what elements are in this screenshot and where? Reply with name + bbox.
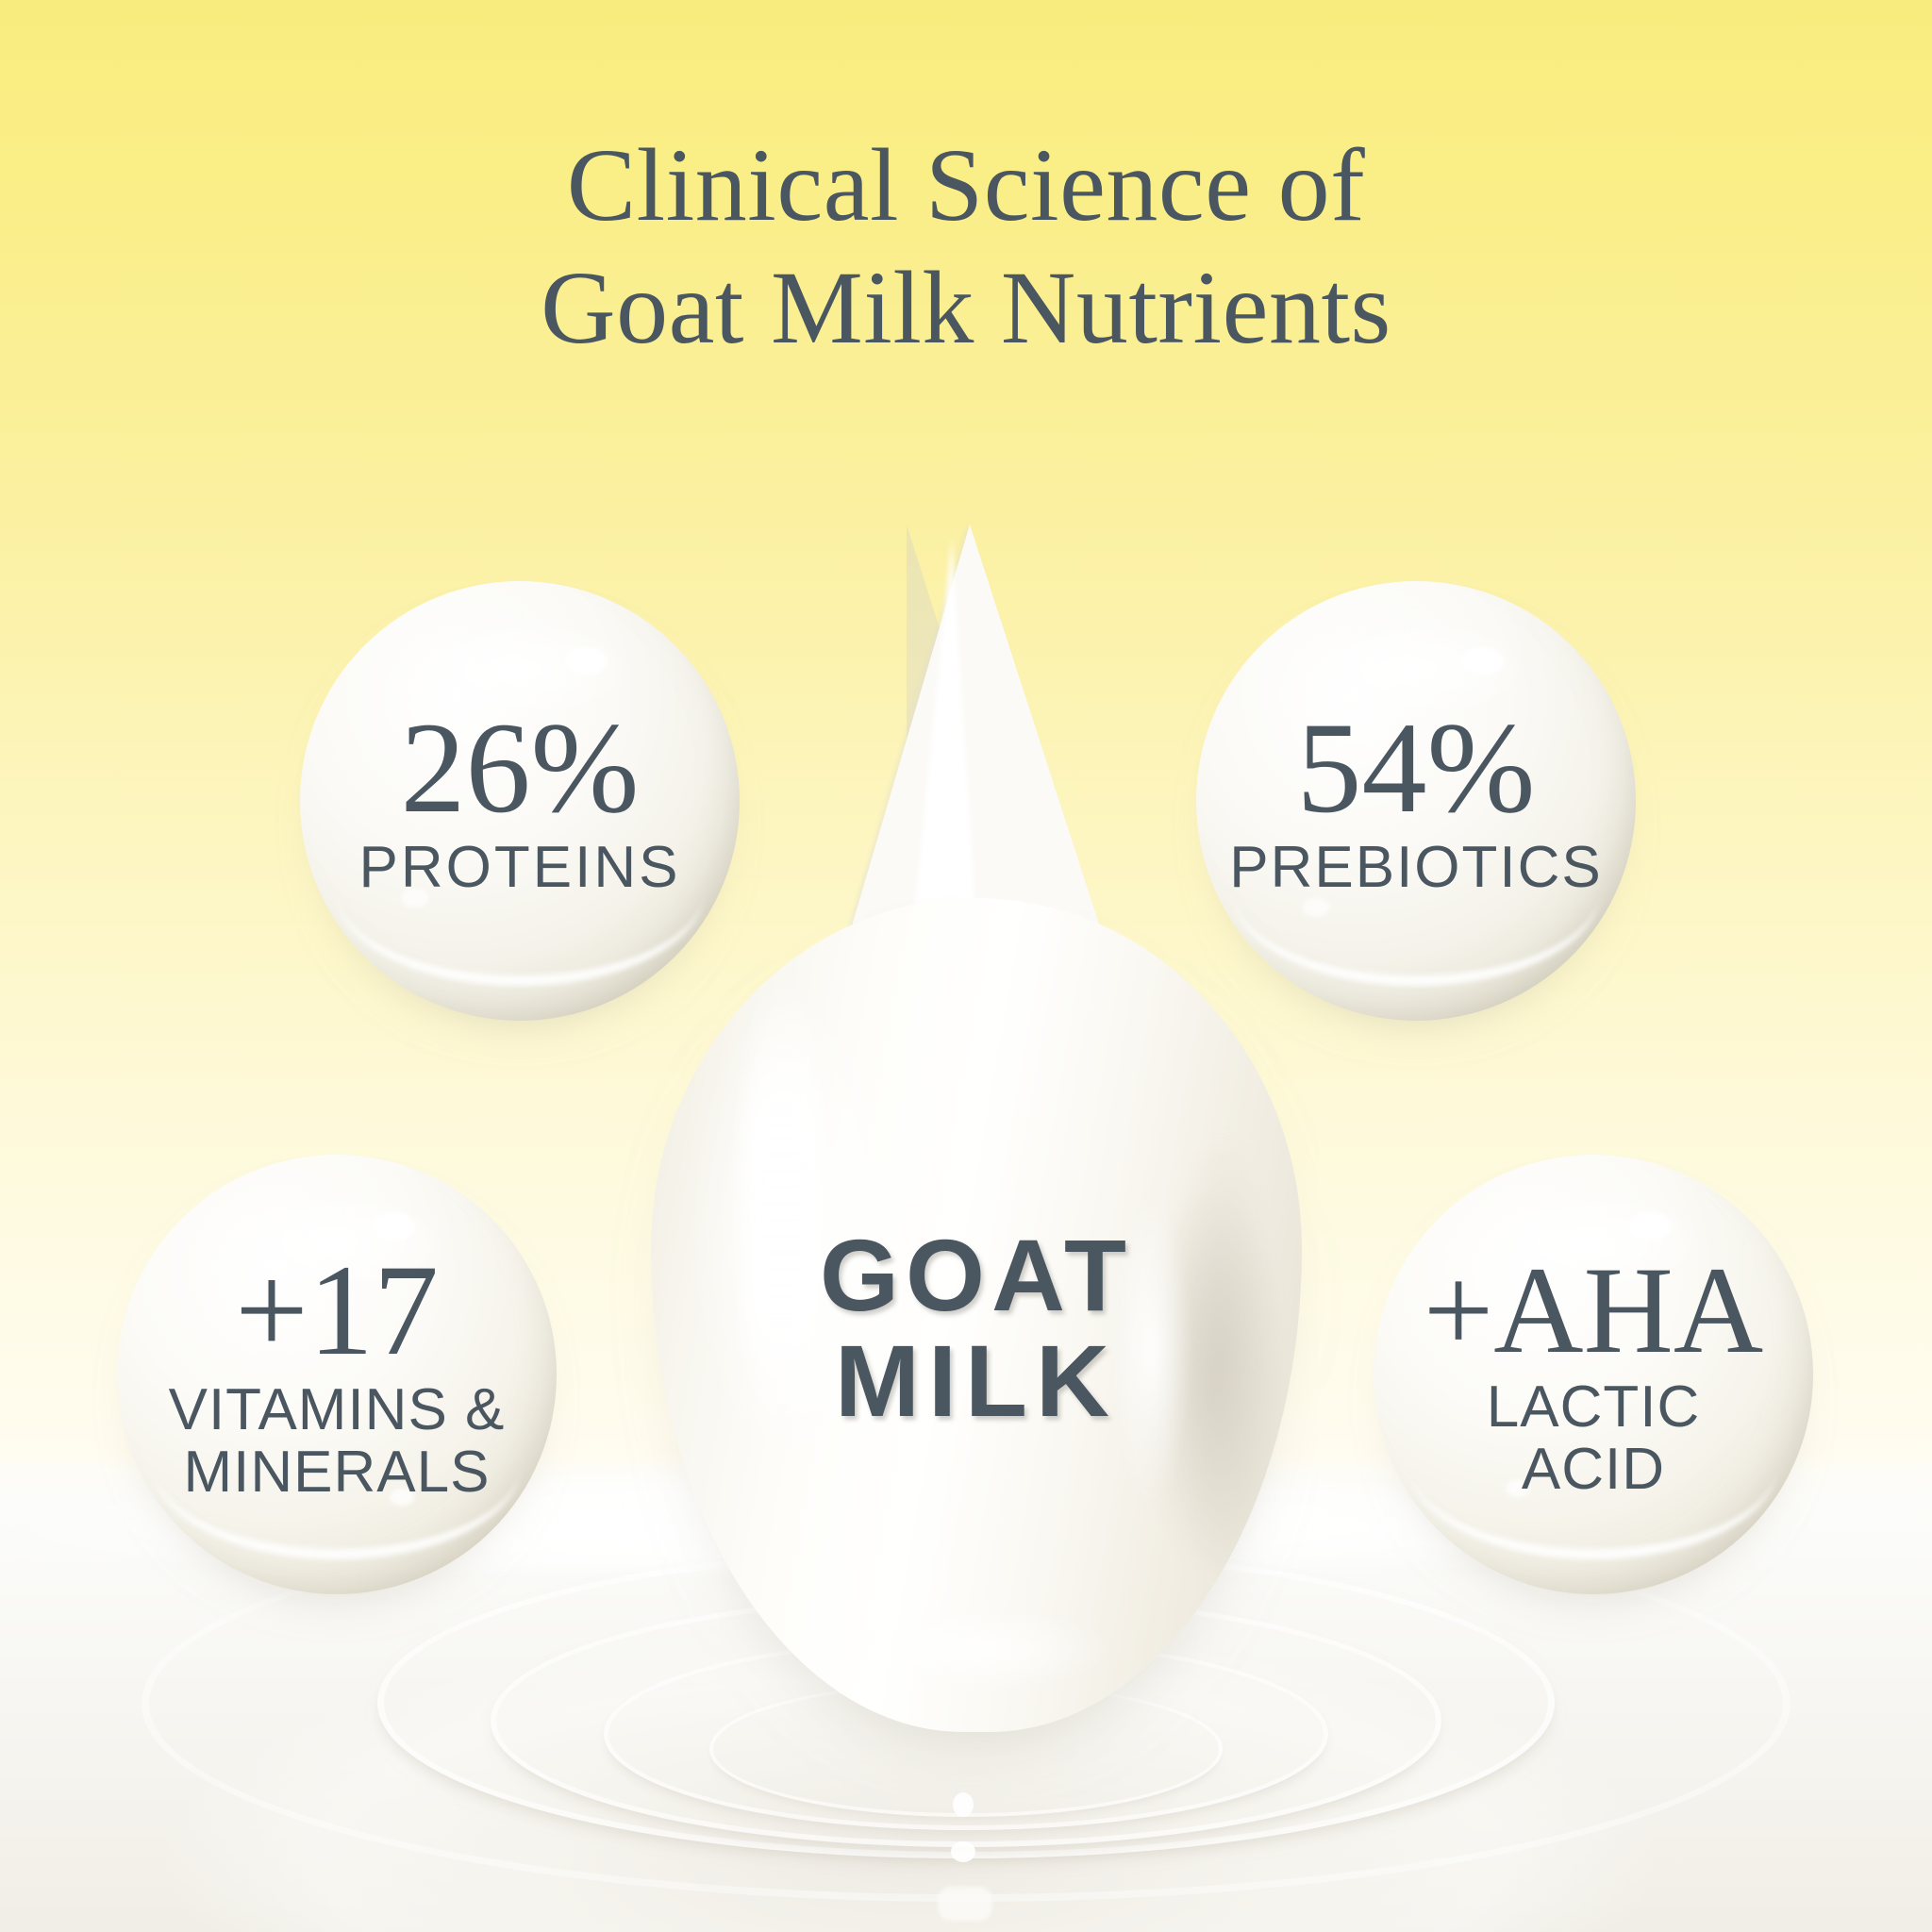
title-line-1: Clinical Science of: [0, 125, 1932, 247]
stat-text-prebiotics: 54% PREBIOTICS: [1229, 704, 1603, 899]
stat-value-proteins: 26%: [359, 704, 681, 831]
bubble-specular-small-icon: [1302, 898, 1330, 917]
splash-droplet-3: [938, 1887, 992, 1921]
bubble-specular-icon: [564, 647, 608, 675]
stat-value-prebiotics: 54%: [1229, 704, 1603, 831]
page-title: Clinical Science of Goat Milk Nutrients: [0, 125, 1932, 370]
droplet-base-highlight: [792, 1600, 1170, 1723]
droplet-brand-label: GOAT MILK: [651, 1223, 1302, 1435]
milk-droplet: GOAT MILK: [651, 525, 1302, 1732]
stat-text-vitamins-minerals: +17 VITAMINS & MINERALS: [169, 1246, 506, 1504]
droplet-tip-highlight: [910, 538, 978, 953]
droplet-label-line-1: GOAT: [820, 1218, 1133, 1332]
stat-text-proteins: 26% PROTEINS: [359, 704, 681, 899]
title-line-2: Goat Milk Nutrients: [0, 247, 1932, 370]
bubble-specular-icon: [1460, 647, 1504, 675]
splash-droplet-1: [953, 1792, 974, 1817]
bubble-specular-icon: [1628, 1212, 1672, 1241]
stat-bubble-vitamins-minerals: +17 VITAMINS & MINERALS: [117, 1155, 557, 1594]
stat-label-proteins: PROTEINS: [359, 837, 681, 899]
splash-droplet-2: [951, 1841, 975, 1862]
stat-text-aha-lactic-acid: +AHA LACTIC ACID: [1424, 1249, 1763, 1501]
stat-label-vitamins-minerals: VITAMINS & MINERALS: [169, 1379, 506, 1503]
stat-value-aha: +AHA: [1424, 1249, 1763, 1371]
stat-label-prebiotics: PREBIOTICS: [1229, 837, 1603, 899]
droplet-label-line-2: MILK: [835, 1324, 1118, 1438]
infographic-canvas: Clinical Science of Goat Milk Nutrients …: [0, 0, 1932, 1932]
stat-bubble-aha-lactic-acid: +AHA LACTIC ACID: [1374, 1155, 1813, 1594]
stat-label-lactic-acid: LACTIC ACID: [1424, 1376, 1763, 1500]
bubble-specular-icon: [372, 1212, 415, 1241]
stat-value-vitamins-minerals: +17: [169, 1246, 506, 1374]
